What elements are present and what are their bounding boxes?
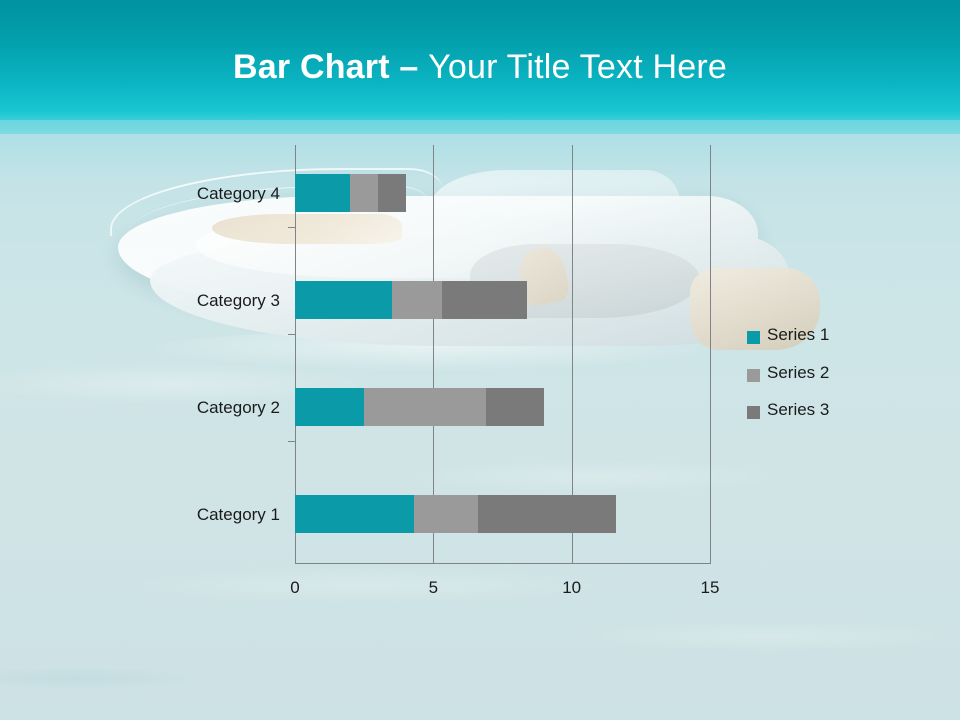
slide-canvas: Bar Chart – Your Title Text Here Categor…: [0, 0, 960, 720]
y-axis-tick-3: [288, 441, 296, 442]
gridline-15: [710, 145, 711, 563]
legend-swatch-icon: [747, 331, 760, 344]
bar-segment-series-3[interactable]: [486, 388, 544, 426]
bar-segment-series-3[interactable]: [378, 174, 406, 212]
page-title-normal: Your Title Text Here: [428, 48, 727, 86]
legend-swatch-icon: [747, 406, 760, 419]
bar-segment-series-3[interactable]: [478, 495, 616, 533]
y-axis-tick-1: [288, 227, 296, 228]
legend-swatch-icon: [747, 369, 760, 382]
boat-windshield: [430, 170, 680, 240]
legend-label: Series 3: [767, 400, 829, 420]
category-label-2: Category 2: [40, 398, 280, 418]
category-label-3: Category 3: [40, 291, 280, 311]
bar-segment-series-1[interactable]: [295, 281, 392, 319]
legend-label: Series 2: [767, 363, 829, 383]
bar-segment-series-2[interactable]: [392, 281, 442, 319]
legend-label: Series 1: [767, 325, 829, 345]
bar-segment-series-2[interactable]: [364, 388, 486, 426]
bar-segment-series-1[interactable]: [295, 388, 364, 426]
category-label-4: Category 4: [40, 184, 280, 204]
bar-segment-series-2[interactable]: [414, 495, 478, 533]
x-tick-label-10: 10: [542, 578, 602, 598]
x-tick-label-15: 15: [680, 578, 740, 598]
bar-segment-series-2[interactable]: [350, 174, 378, 212]
bar-segment-series-3[interactable]: [442, 281, 528, 319]
category-label-1: Category 1: [40, 505, 280, 525]
x-axis-line: [295, 563, 711, 564]
page-title-bold: Bar Chart –: [233, 48, 428, 86]
x-tick-label-0: 0: [265, 578, 325, 598]
y-axis-tick-2: [288, 334, 296, 335]
bar-segment-series-1[interactable]: [295, 495, 414, 533]
page-title: Bar Chart – Your Title Text Here: [0, 48, 960, 87]
x-tick-label-5: 5: [403, 578, 463, 598]
bar-segment-series-1[interactable]: [295, 174, 350, 212]
